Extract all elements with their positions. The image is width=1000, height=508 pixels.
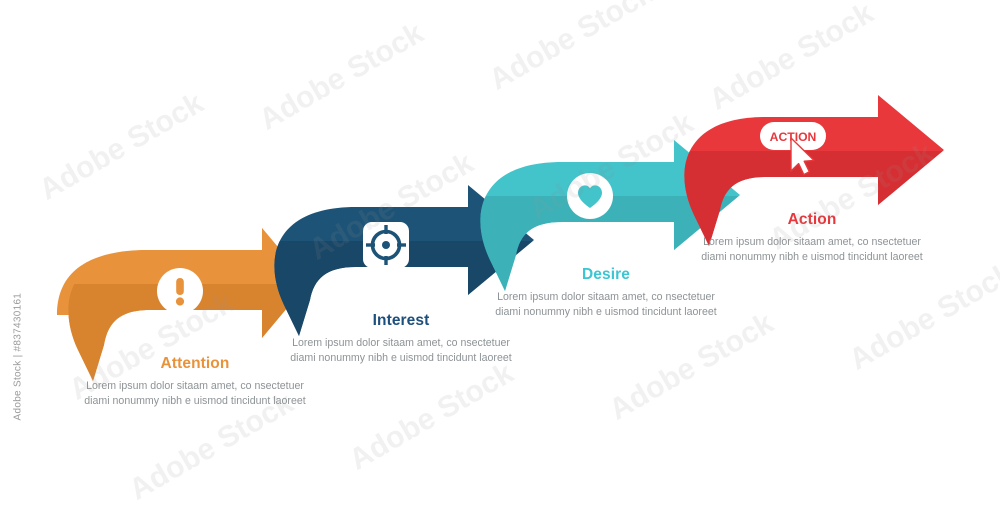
- caption-action: Action Lorem ipsum dolor sitaam amet, co…: [692, 211, 932, 265]
- caption-attention: Attention Lorem ipsum dolor sitaam amet,…: [75, 355, 315, 409]
- target-icon: [363, 222, 409, 268]
- step-body-desire: Lorem ipsum dolor sitaam amet, co nsecte…: [486, 290, 726, 320]
- stock-watermark-id: Adobe Stock | #837430161: [13, 271, 24, 421]
- caption-desire: Desire Lorem ipsum dolor sitaam amet, co…: [486, 266, 726, 320]
- heart-icon: [567, 173, 613, 219]
- step-body-interest: Lorem ipsum dolor sitaam amet, co nsecte…: [281, 336, 521, 366]
- step-title-interest: Interest: [281, 312, 521, 330]
- infographic-canvas: ACTION Attention Lorem ipsum dolor sitaa…: [0, 0, 1000, 479]
- caption-interest: Interest Lorem ipsum dolor sitaam amet, …: [281, 312, 521, 366]
- step-body-attention: Lorem ipsum dolor sitaam amet, co nsecte…: [75, 379, 315, 409]
- step-title-attention: Attention: [75, 355, 315, 373]
- step-title-action: Action: [692, 211, 932, 229]
- exclamation-icon: [157, 268, 203, 314]
- step-body-action: Lorem ipsum dolor sitaam amet, co nsecte…: [692, 235, 932, 265]
- step-title-desire: Desire: [486, 266, 726, 284]
